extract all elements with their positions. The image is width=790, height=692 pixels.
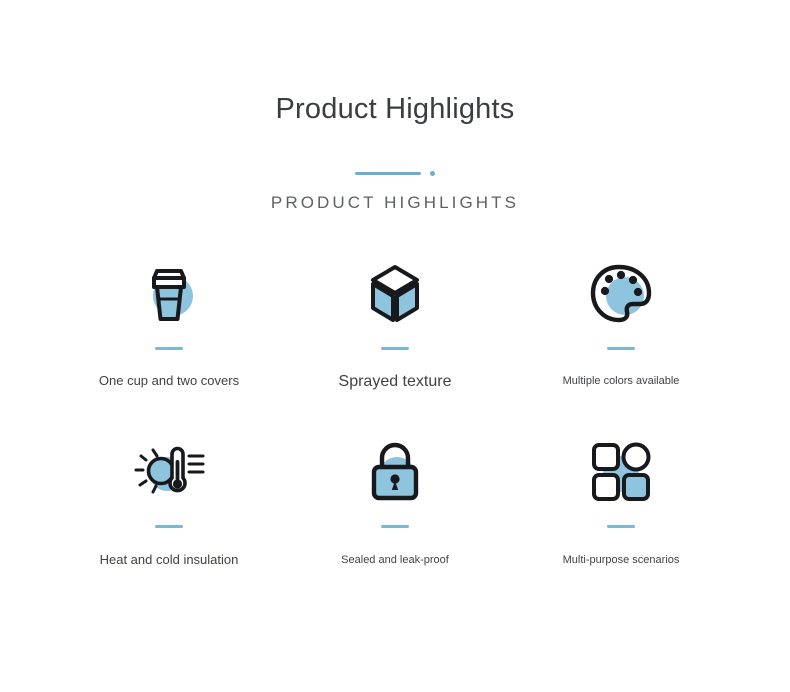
feature-item: One cup and two covers: [56, 257, 282, 435]
feature-grid: One cup and two covers Sprayed texture: [0, 257, 790, 613]
feature-item: Sealed and leak-proof: [282, 435, 508, 613]
feature-dash-icon: [607, 347, 635, 350]
page-title: Product Highlights: [0, 92, 790, 127]
feature-label: Sprayed texture: [339, 372, 452, 393]
padlock-icon: [355, 435, 435, 509]
feature-item: Heat and cold insulation: [56, 435, 282, 613]
coffee-cup-icon: [129, 257, 209, 331]
feature-dash-icon: [155, 347, 183, 350]
feature-label: Sealed and leak-proof: [341, 553, 449, 567]
feature-item: Sprayed texture: [282, 257, 508, 435]
feature-label: Multiple colors available: [563, 374, 680, 388]
feature-dash-icon: [381, 525, 409, 528]
feature-dash-icon: [381, 347, 409, 350]
paint-palette-icon: [581, 257, 661, 331]
divider-line-icon: [355, 172, 421, 175]
cube-box-icon: [355, 257, 435, 331]
grid-shapes-icon: [581, 435, 661, 509]
feature-label: One cup and two covers: [99, 373, 239, 390]
feature-item: Multiple colors available: [508, 257, 734, 435]
page-subtitle: PRODUCT HIGHLIGHTS: [0, 193, 790, 213]
page-header: Product Highlights PRODUCT HIGHLIGHTS: [0, 0, 790, 213]
feature-label: Heat and cold insulation: [100, 552, 239, 569]
thermometer-sun-icon: [129, 435, 209, 509]
divider-dot-icon: [430, 171, 435, 176]
feature-item: Multi-purpose scenarios: [508, 435, 734, 613]
feature-dash-icon: [155, 525, 183, 528]
feature-label: Multi-purpose scenarios: [563, 553, 680, 567]
accent-divider: [0, 169, 790, 179]
product-highlights-page: Product Highlights PRODUCT HIGHLIGHTS On…: [0, 0, 790, 692]
feature-dash-icon: [607, 525, 635, 528]
